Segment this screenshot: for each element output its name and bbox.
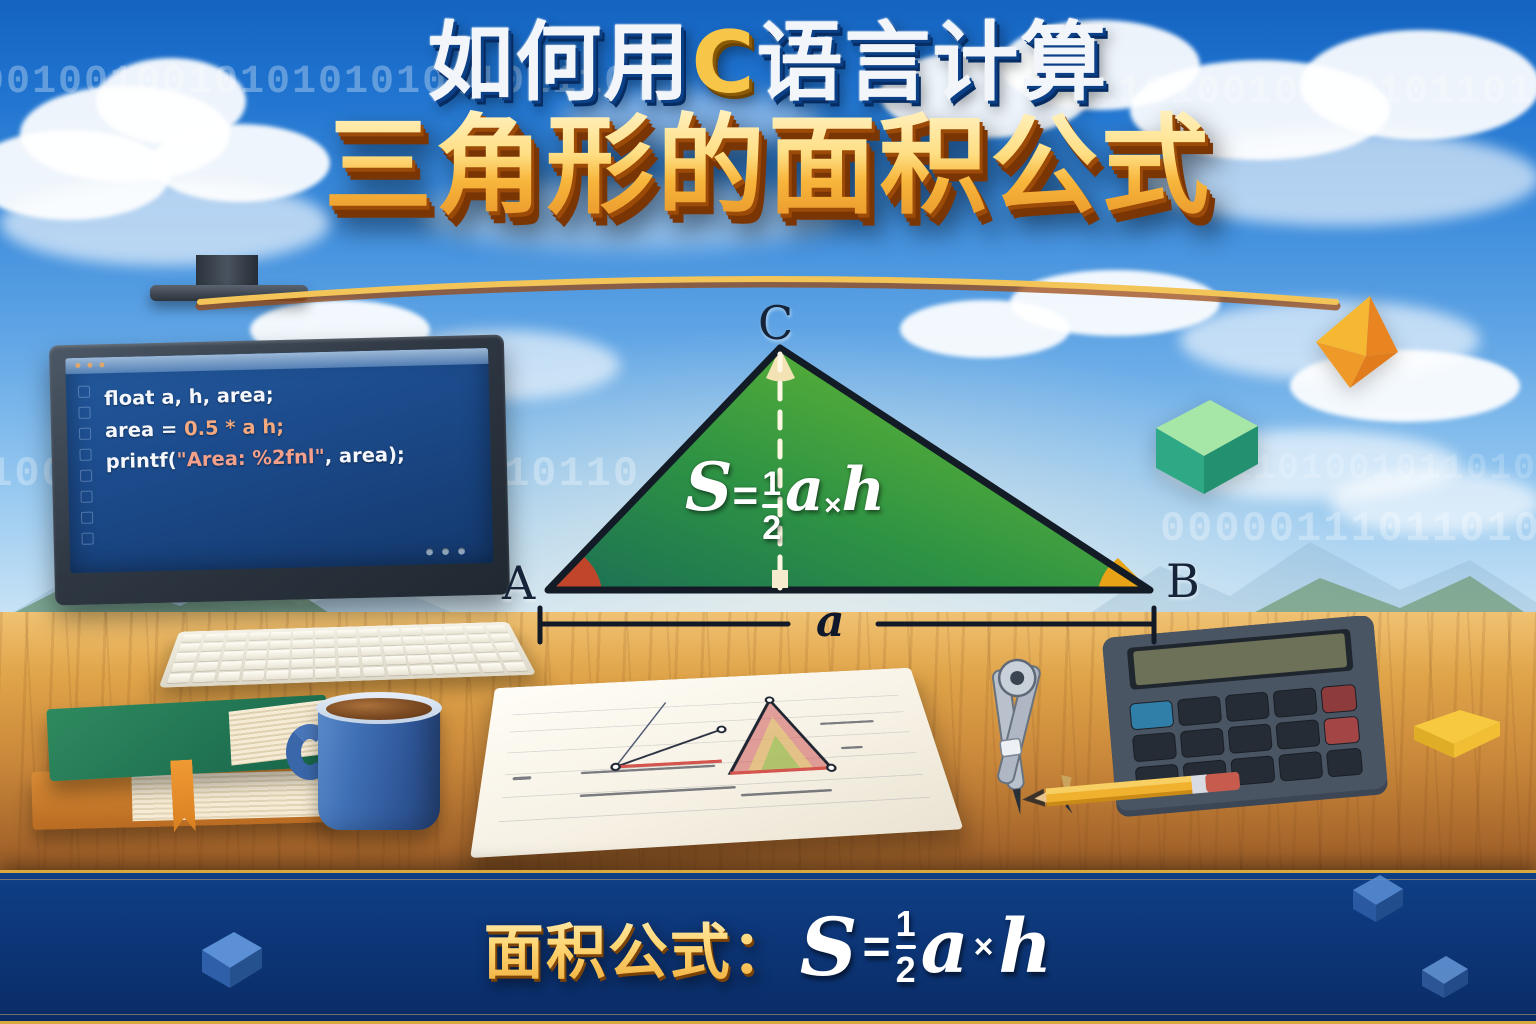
right-angle-marker [772, 570, 788, 588]
title-underline-arc [0, 258, 1536, 320]
base-dimension-line [540, 608, 1154, 642]
code-editor-content: float a, h, area; area = 0.5 * a h; prin… [104, 374, 479, 478]
blue-cube-small [1348, 870, 1408, 926]
title-line1-prefix: 如何用 [427, 13, 691, 113]
banner-times-icon: × [974, 928, 994, 967]
blue-cube-small [196, 926, 268, 992]
fraction-denominator: 2 [762, 511, 781, 545]
code-text: , area); [324, 443, 405, 468]
sidebar-icon [79, 449, 91, 461]
title-line1-suffix: 语言计算 [757, 13, 1109, 113]
binary-row: 1101001011010010110100101 [1230, 448, 1536, 489]
banner-equals: = [863, 920, 891, 975]
sidebar-icon [80, 470, 92, 482]
banner-fraction: 1 2 [896, 906, 916, 988]
formula-var-h: h [842, 455, 886, 525]
title-line-2: 三角形的面积公式 [0, 110, 1536, 223]
banner-fraction-numerator: 1 [896, 906, 916, 942]
code-text: printf( [105, 449, 176, 474]
blue-cube-small [1418, 952, 1472, 1002]
banner-fraction-denominator: 2 [896, 952, 916, 988]
sidebar-icon [78, 407, 90, 419]
code-text: area = [105, 417, 185, 442]
sketch-paper[interactable] [470, 668, 963, 858]
banner-symbol-s: S [800, 900, 858, 994]
poster-canvas: 0010010010101010100101110 10110100101001… [0, 0, 1536, 1024]
vertex-label-a: A [502, 556, 535, 610]
poster-title: 如何用C语言计算 三角形的面积公式 [0, 18, 1536, 224]
title-line1-highlight-c: C [691, 13, 756, 113]
vertex-label-b: B [1166, 554, 1200, 608]
formula-times-icon: × [824, 489, 842, 522]
sidebar-icon [78, 386, 90, 398]
sidebar-icon [79, 428, 91, 440]
fraction-numerator: 1 [762, 467, 781, 501]
sidebar-icon [81, 512, 93, 524]
banner-label: 面积公式： [484, 904, 794, 991]
book-pages [131, 770, 324, 821]
title-line-1: 如何用C语言计算 [0, 18, 1536, 108]
fraction-bar [762, 504, 781, 508]
paper-triangle-sketch [605, 685, 875, 803]
banner-var-a: a [921, 904, 969, 990]
triangle-diagram: C A B S=12a×h a [490, 300, 1210, 660]
keyboard-keys [167, 625, 528, 683]
sidebar-icon [81, 533, 93, 545]
editor-sidebar-icons [72, 381, 101, 567]
coffee-surface [326, 698, 432, 720]
banner-formula: S = 1 2 a × h [800, 900, 1052, 994]
sidebar-icon [80, 491, 92, 503]
formula-fraction: 12 [762, 467, 781, 545]
base-length-label: a [816, 596, 845, 647]
formula-var-a: a [785, 455, 824, 525]
monitor-indicator-lights [426, 547, 465, 555]
desktop-monitor[interactable]: float a, h, area; area = 0.5 * a h; prin… [49, 334, 510, 605]
formula-symbol-s: S [685, 448, 733, 526]
sticky-note-pad[interactable] [1408, 700, 1504, 762]
monitor-screen[interactable]: float a, h, area; area = 0.5 * a h; prin… [65, 348, 493, 573]
code-text: float a, h, area; [104, 383, 274, 410]
formula-equals: = [733, 471, 759, 520]
banner-var-h: h [998, 904, 1052, 990]
code-literal: 0.5 * a h; [184, 414, 284, 439]
triangle-area-formula: S=12a×h [620, 448, 950, 545]
binary-row: 0000011101101001011010010 [1160, 505, 1536, 553]
code-string: "Area: %2fnl" [176, 445, 325, 472]
